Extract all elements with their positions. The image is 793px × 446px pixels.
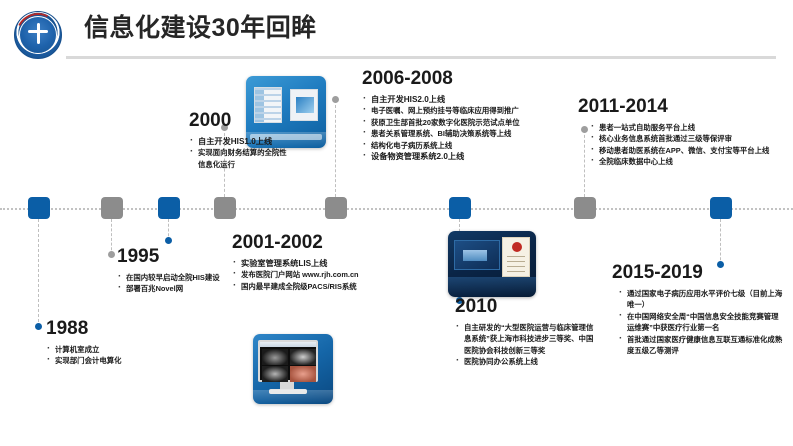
timeline-entry-2011-2014: 2011-2014 患者一站式自助服务平台上线 核心业务信息系统首批通过三级等保… <box>578 96 778 168</box>
entry-year-2000: 2000 <box>189 110 294 132</box>
list-item: 电子医嘱、网上预约挂号等临床应用得到推广 <box>362 105 580 116</box>
entry-list-2015-2019: 通过国家电子病历应用水平评价七级（目前上海唯一） 在中国网络安全周“中国信息安全… <box>618 288 784 356</box>
timeline-entry-2006-2008: 2006-2008 自主开发HIS2.0上线 电子医嘱、网上预约挂号等临床应用得… <box>362 68 580 162</box>
list-item: 发布医院门户网站 www.rjh.com.cn <box>232 269 380 280</box>
timeline-marker-1988[interactable] <box>28 197 50 219</box>
list-item: 医院协同办公系统上线 <box>455 356 595 367</box>
list-item: 在中国网络安全周“中国信息安全技能竞赛管理运维赛”中获医疗行业第一名 <box>618 311 784 334</box>
slide-header: 信息化建设30年回眸 <box>0 0 793 68</box>
list-item: 实现部门会计电算化 <box>46 355 156 366</box>
title-divider <box>66 56 776 59</box>
connector-dot-1995 <box>108 251 115 258</box>
list-item: 实验室管理系统LIS上线 <box>232 258 380 269</box>
connector-2006-2008 <box>335 100 336 197</box>
connector-1988 <box>38 219 39 327</box>
list-item: 自主研发的“大型医院运营与临床管理信息系统”获上海市科技进步三等奖、中国医院协会… <box>455 322 595 356</box>
timeline-entry-2010: 2010 自主研发的“大型医院运营与临床管理信息系统”获上海市科技进步三等奖、中… <box>455 296 595 368</box>
entry-list-2010: 自主研发的“大型医院运营与临床管理信息系统”获上海市科技进步三等奖、中国医院协会… <box>455 322 595 368</box>
list-item: 在国内较早启动全院HIS建设 <box>117 272 237 283</box>
timeline-entry-1988: 1988 计算机室成立 实现部门会计电算化 <box>46 318 156 367</box>
entry-year-2010: 2010 <box>455 296 595 318</box>
list-item: 计算机室成立 <box>46 344 156 355</box>
list-item: 患者一站式自助服务平台上线 <box>590 122 778 133</box>
entry-year-2015-2019: 2015-2019 <box>612 262 784 284</box>
timeline-marker-2001-2002[interactable] <box>158 197 180 219</box>
timeline-marker-2015-2019[interactable] <box>710 197 732 219</box>
timeline-marker-1995[interactable] <box>101 197 123 219</box>
list-item: 核心业务信息系统首批通过三级等保评审 <box>590 133 778 144</box>
entry-year-2001-2002: 2001-2002 <box>232 232 380 254</box>
list-item: 全院临床数据中心上线 <box>590 156 778 167</box>
list-item: 设备物资管理系统2.0上线 <box>362 151 580 162</box>
entry-year-2006-2008: 2006-2008 <box>362 68 580 90</box>
entry-list-2000: 自主开发HIS1.0上线 实现面向财务结算的全院性信息化运行 <box>189 136 294 170</box>
connector-2015-2019 <box>720 219 721 265</box>
entry-list-2011-2014: 患者一站式自助服务平台上线 核心业务信息系统首批通过三级等保评审 移动患者助医系… <box>590 122 778 168</box>
list-item: 实现面向财务结算的全院性信息化运行 <box>189 147 294 170</box>
list-item: 部署百兆Novel网 <box>117 283 237 294</box>
list-item: 获原卫生部首批20家数字化医院示范试点单位 <box>362 117 580 128</box>
list-item: 国内最早建成全院级PACS/RIS系统 <box>232 281 380 292</box>
connector-1995 <box>111 219 112 255</box>
award-certificate-photo <box>448 231 536 297</box>
timeline-marker-2010[interactable] <box>449 197 471 219</box>
connector-dot-2001 <box>165 237 172 244</box>
timeline-entry-2000: 2000 自主开发HIS1.0上线 实现面向财务结算的全院性信息化运行 <box>189 110 294 170</box>
slide-canvas: 信息化建设30年回眸 <box>0 0 793 446</box>
list-item: 自主开发HIS1.0上线 <box>189 136 294 147</box>
entry-year-1988: 1988 <box>46 318 156 340</box>
timeline-entry-2015-2019: 2015-2019 通过国家电子病历应用水平评价七级（目前上海唯一） 在中国网络… <box>612 262 784 356</box>
hospital-emblem-logo <box>14 11 62 59</box>
entry-list-2001-2002: 实验室管理系统LIS上线 发布医院门户网站 www.rjh.com.cn 国内最… <box>232 258 380 292</box>
timeline-marker-2011-2014[interactable] <box>574 197 596 219</box>
list-item: 通过国家电子病历应用水平评价七级（目前上海唯一） <box>618 288 784 311</box>
connector-dot-1988 <box>35 323 42 330</box>
entry-list-1988: 计算机室成立 实现部门会计电算化 <box>46 344 156 367</box>
list-item: 自主开发HIS2.0上线 <box>362 94 580 105</box>
list-item: 移动患者助医系统在APP、微信、支付宝等平台上线 <box>590 145 778 156</box>
entry-list-2006-2008: 自主开发HIS2.0上线 电子医嘱、网上预约挂号等临床应用得到推广 获原卫生部首… <box>362 94 580 162</box>
page-title: 信息化建设30年回眸 <box>84 11 317 45</box>
timeline-entry-1995: 1995 在国内较早启动全院HIS建设 部署百兆Novel网 <box>117 246 237 295</box>
timeline-marker-2006-2008[interactable] <box>325 197 347 219</box>
list-item: 首批通过国家医疗健康信息互联互通标准化成熟度五级乙等测评 <box>618 334 784 357</box>
pacs-workstation-photo <box>253 334 333 404</box>
entry-year-2011-2014: 2011-2014 <box>578 96 778 118</box>
connector-dot-2006 <box>332 96 339 103</box>
entry-list-1995: 在国内较早启动全院HIS建设 部署百兆Novel网 <box>117 272 237 295</box>
entry-year-1995: 1995 <box>117 246 237 268</box>
timeline-entry-2001-2002: 2001-2002 实验室管理系统LIS上线 发布医院门户网站 www.rjh.… <box>232 232 380 292</box>
timeline-marker-2000[interactable] <box>214 197 236 219</box>
list-item: 患者关系管理系统、BI辅助决策系统等上线 <box>362 128 580 139</box>
list-item: 结构化电子病历系统上线 <box>362 140 580 151</box>
